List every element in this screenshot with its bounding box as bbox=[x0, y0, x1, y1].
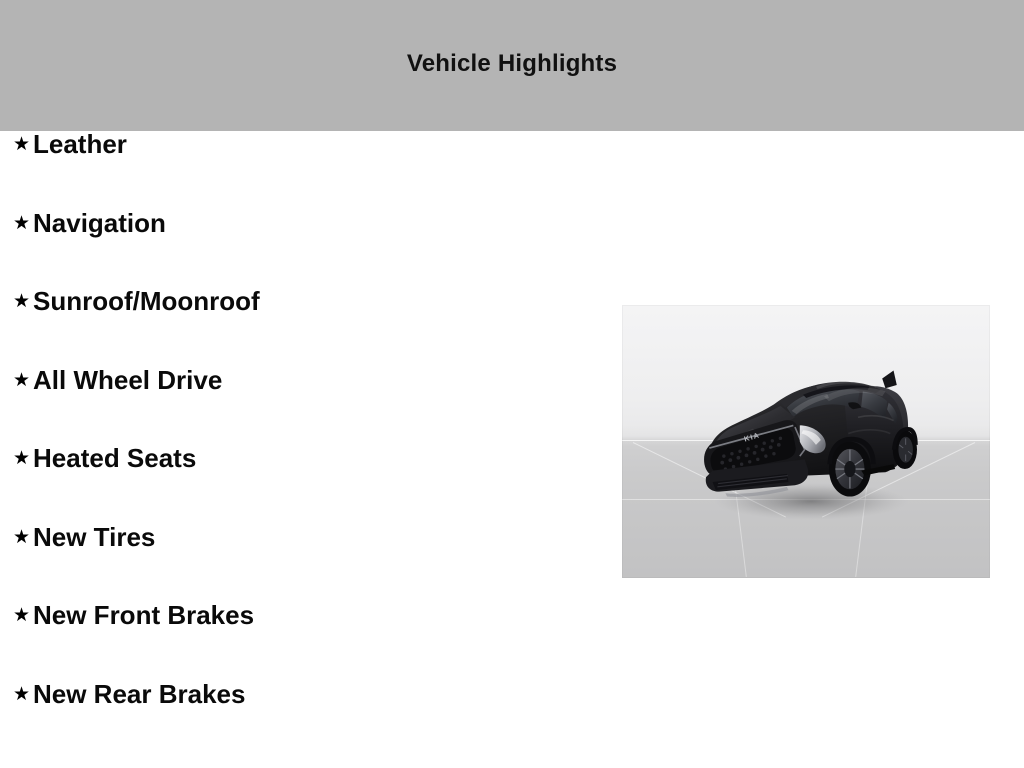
highlight-label: Navigation bbox=[33, 210, 166, 236]
star-bullet-icon: ★ bbox=[13, 528, 33, 547]
star-bullet-icon: ★ bbox=[13, 685, 33, 704]
vehicle-highlights-list: ★ Leather ★ Navigation ★ Sunroof/Moonroo… bbox=[0, 131, 600, 759]
highlight-label: New Rear Brakes bbox=[33, 681, 245, 707]
list-item: ★ Sunroof/Moonroof bbox=[0, 288, 600, 367]
page-title: Vehicle Highlights bbox=[407, 51, 617, 79]
vehicle-photo[interactable]: KIA bbox=[622, 305, 990, 578]
vehicle-highlights-page: Vehicle Highlights ★ Leather ★ Navigatio… bbox=[0, 0, 1024, 768]
highlight-label: Heated Seats bbox=[33, 445, 196, 471]
list-item: ★ Navigation bbox=[0, 210, 600, 289]
highlight-label: All Wheel Drive bbox=[33, 367, 222, 393]
highlight-label: New Tires bbox=[33, 524, 155, 550]
star-bullet-icon: ★ bbox=[13, 214, 33, 233]
highlight-label: New Front Brakes bbox=[33, 602, 254, 628]
studio-backdrop: KIA bbox=[622, 305, 990, 578]
highlight-label: Sunroof/Moonroof bbox=[33, 288, 260, 314]
vehicle-illustration: KIA bbox=[640, 343, 982, 545]
list-item: ★ Leather bbox=[0, 131, 600, 210]
star-bullet-icon: ★ bbox=[13, 371, 33, 390]
star-bullet-icon: ★ bbox=[13, 135, 33, 154]
content-area: ★ Leather ★ Navigation ★ Sunroof/Moonroo… bbox=[0, 131, 1024, 768]
list-item: ★ New Tires bbox=[0, 524, 600, 603]
star-bullet-icon: ★ bbox=[13, 449, 33, 468]
list-item: ★ Heated Seats bbox=[0, 445, 600, 524]
highlight-label: Leather bbox=[33, 131, 127, 157]
star-bullet-icon: ★ bbox=[13, 292, 33, 311]
list-item: ★ New Rear Brakes bbox=[0, 681, 600, 760]
list-item: ★ All Wheel Drive bbox=[0, 367, 600, 446]
header-band: Vehicle Highlights bbox=[0, 0, 1024, 131]
star-bullet-icon: ★ bbox=[13, 606, 33, 625]
list-item: ★ New Front Brakes bbox=[0, 602, 600, 681]
